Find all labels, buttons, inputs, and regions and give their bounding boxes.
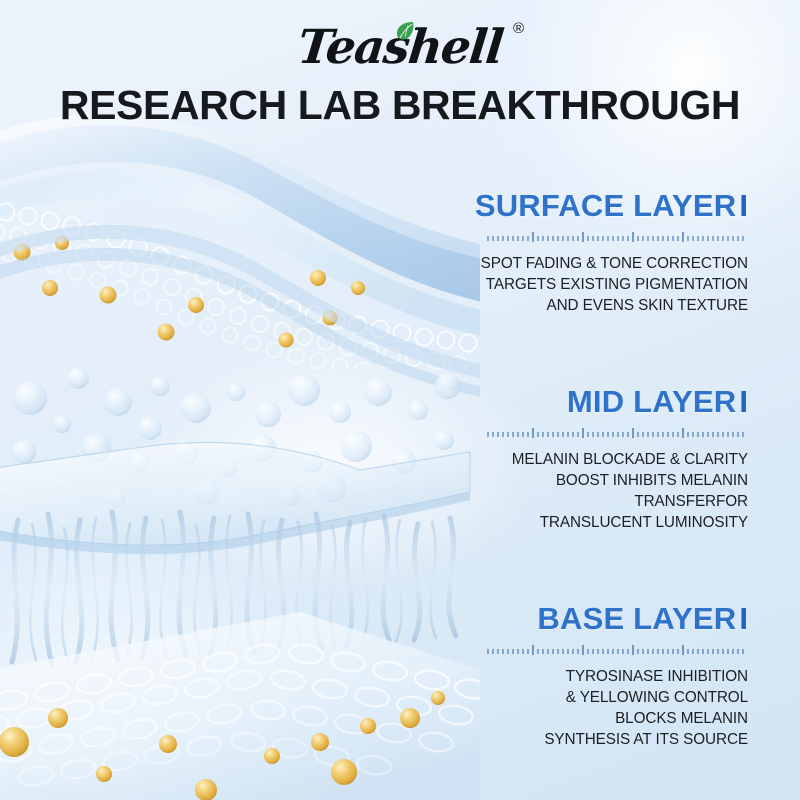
registered-trademark-icon: ® (513, 20, 524, 37)
layer-body-base: TYROSINASE INHIBITION & YELLOWING CONTRO… (458, 666, 748, 750)
layer-body-line: BOOST INHIBITS MELANIN (458, 470, 748, 491)
layer-body-mid: MELANIN BLOCKADE & CLARITY BOOST INHIBIT… (458, 449, 748, 533)
layer-numeral-surface: I (739, 188, 748, 223)
tick-divider-base (486, 645, 748, 656)
layer-body-surface: SPOT FADING & TONE CORRECTION TARGETS EX… (458, 253, 748, 316)
poster-header: Teashell ® RESEARCH LAB BREAKTHROUGH (0, 0, 800, 129)
layer-title-surface-text: SURFACE LAYER (475, 188, 737, 223)
layer-block-mid: MID LAYERI (458, 386, 748, 533)
layer-title-base-text: BASE LAYER (537, 601, 736, 636)
page-title: RESEARCH LAB BREAKTHROUGH (0, 82, 800, 129)
layer-block-surface: SURFACE LAYERI (458, 190, 748, 316)
layer-body-line: TRANSLUCENT LUMINOSITY (458, 512, 748, 533)
layer-body-line: BLOCKS MELANIN (458, 708, 748, 729)
layer-block-base: BASE LAYERI (458, 603, 748, 750)
layer-title-mid: MID LAYERI (458, 386, 748, 419)
layer-title-mid-text: MID LAYER (567, 384, 736, 419)
tick-divider-surface (486, 232, 748, 243)
poster-root: Teashell ® RESEARCH LAB BREAKTHROUGH SUR… (0, 0, 800, 800)
surface-layer-art (0, 114, 480, 400)
brand-logo: Teashell ® (298, 18, 502, 80)
layer-title-surface: SURFACE LAYERI (458, 190, 748, 223)
layer-body-line: SPOT FADING & TONE CORRECTION (458, 253, 748, 274)
layer-body-line: TARGETS EXISTING PIGMENTATION (458, 274, 748, 295)
layer-body-line: MELANIN BLOCKADE & CLARITY (458, 449, 748, 470)
layer-body-line: & YELLOWING CONTROL (458, 687, 748, 708)
leaf-icon (394, 20, 416, 42)
layer-title-base: BASE LAYERI (458, 603, 748, 636)
layer-body-line: TYROSINASE INHIBITION (458, 666, 748, 687)
layer-numeral-base: I (739, 601, 748, 636)
layer-body-line: SYNTHESIS AT ITS SOURCE (458, 729, 748, 750)
tick-divider-mid (486, 428, 748, 439)
base-cell-lattice (0, 612, 480, 800)
layer-numeral-mid: I (739, 384, 748, 419)
layer-body-line: TRANSFERFOR (458, 491, 748, 512)
layer-body-line: AND EVENS SKIN TEXTURE (458, 295, 748, 316)
